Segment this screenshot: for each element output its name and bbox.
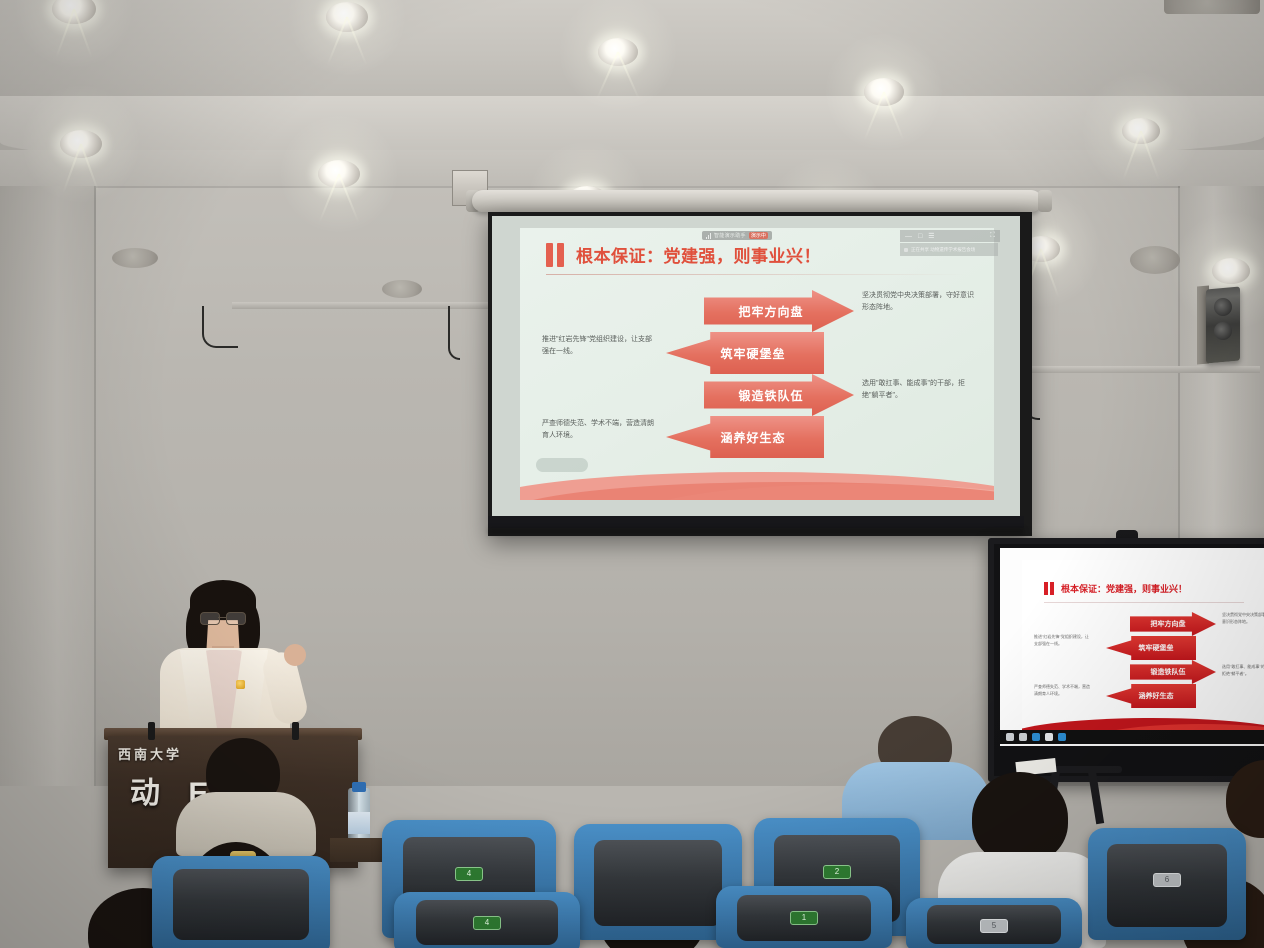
ceiling-downlight	[1212, 258, 1250, 284]
tv-title-accent-bars-icon	[1044, 582, 1054, 595]
tv-note-left-2: 严查师德失范、学术不端，营造清朗育人环境。	[1034, 684, 1092, 698]
slide-arrow-4-label: 涵养好生态	[720, 429, 785, 446]
explorer-icon[interactable]	[1045, 733, 1053, 741]
window-controls[interactable]: — □ ☰ ⛶	[900, 230, 1000, 242]
search-icon[interactable]	[1019, 733, 1027, 741]
seat-number-plate: 5	[980, 919, 1008, 933]
ceiling-downlight	[598, 38, 638, 66]
ceiling-downlight	[864, 78, 904, 106]
slide-arrow-2: 筑牢硬堡垒	[666, 332, 824, 374]
auditorium-seat: 4	[394, 892, 580, 948]
seat-cushion	[594, 840, 722, 926]
slide-note-left-1: 推进"红岩先锋"党组织建设，让支部强在一线。	[542, 334, 654, 359]
projected-slide: 根本保证：党建强，则事业兴！ 把牢方向盘 筑牢硬堡垒 锻造铁队伍 涵养好生态 推…	[520, 228, 994, 500]
presentation-app-toolbar[interactable]: 智能演示助手 演示中	[702, 231, 772, 240]
speaker-cone-icon	[1214, 298, 1232, 316]
tv-arrow-2: 筑牢硬堡垒	[1106, 636, 1196, 660]
slide-note-left-2: 严查师德失范、学术不端，营造清朗育人环境。	[542, 418, 654, 443]
slide-arrow-4: 涵养好生态	[666, 416, 824, 458]
start-icon[interactable]	[1006, 733, 1014, 741]
fullscreen-icon[interactable]: ⛶	[990, 232, 995, 240]
presenting-badge: 演示中	[749, 232, 768, 239]
slide-note-right-1: 坚决贯彻党中央决策部署，守好意识形态阵地。	[862, 290, 974, 315]
slide-title: 根本保证：党建强，则事业兴！	[576, 242, 821, 267]
tv-note-right-1: 坚决贯彻党中央决策部署，守好意识形态阵地。	[1222, 612, 1264, 626]
ceiling-downlight	[60, 130, 102, 158]
tv-title-divider	[1044, 602, 1244, 603]
tv-slide-content: 根本保证：党建强，则事业兴！ 把牢方向盘 筑牢硬堡垒 锻造铁队伍 涵养好生态 推…	[1022, 560, 1264, 738]
auditorium-seat: 6	[1088, 828, 1246, 940]
slide-arrow-1: 把牢方向盘	[704, 290, 854, 332]
ceiling-downlight	[52, 0, 96, 24]
screen-roller-cap-right	[1038, 190, 1052, 212]
ceiling-vent	[112, 248, 158, 268]
seat-number-plate: 4	[455, 867, 483, 881]
tv-arrow-3-label: 锻造铁队伍	[1151, 667, 1186, 677]
auditorium-seat: 1	[716, 886, 892, 948]
ceiling-downlight	[1122, 118, 1160, 144]
maximize-icon[interactable]: □	[918, 233, 922, 240]
tv-arrow-4: 涵养好生态	[1106, 684, 1196, 708]
tv-arrow-4-label: 涵养好生态	[1139, 691, 1174, 701]
share-indicator-icon	[904, 248, 908, 252]
slide-arrow-3-label: 锻造铁队伍	[738, 387, 803, 404]
tv-arrow-2-label: 筑牢硬堡垒	[1139, 643, 1174, 653]
power-cable	[448, 306, 460, 360]
minimize-icon[interactable]: —	[905, 233, 912, 240]
wall-left-column	[0, 186, 96, 786]
app-brand-label: 智能演示助手	[714, 232, 746, 239]
lecture-hall-photo: 根本保证：党建强，则事业兴！ 把牢方向盘 筑牢硬堡垒 锻造铁队伍 涵养好生态 推…	[0, 0, 1264, 948]
screen-drop-shadow	[488, 528, 1024, 535]
audience-head	[972, 772, 1068, 864]
sharing-status-label: 正在共享 动物遗传学术报告会场	[911, 247, 975, 253]
tv-taskbar[interactable]	[1000, 730, 1264, 744]
edge-icon[interactable]	[1032, 733, 1040, 741]
tv-slide-title: 根本保证：党建强，则事业兴！	[1061, 582, 1187, 595]
microphone	[148, 722, 155, 740]
slide-bottom-wave	[520, 456, 994, 500]
seat-number-plate: 2	[823, 865, 851, 879]
tv-arrow-1-label: 把牢方向盘	[1151, 619, 1186, 629]
speaker-cone-icon	[1214, 322, 1232, 340]
microphone	[292, 722, 299, 740]
slide-arrow-1-label: 把牢方向盘	[738, 303, 803, 320]
tv-arrow-1: 把牢方向盘	[1130, 612, 1216, 636]
ceiling-vent	[382, 280, 422, 298]
speaker-glasses-icon	[200, 612, 244, 623]
seat-number-plate: 4	[473, 916, 501, 930]
tv-arrow-3: 锻造铁队伍	[1130, 660, 1216, 684]
bottle-cap	[352, 782, 366, 792]
title-divider	[546, 274, 966, 275]
ceiling-projector-mount	[1164, 0, 1260, 14]
app-icon[interactable]	[1058, 733, 1066, 741]
menu-icon[interactable]: ☰	[928, 233, 934, 240]
slide-arrow-2-label: 筑牢硬堡垒	[720, 345, 785, 362]
title-accent-bars-icon	[546, 243, 564, 267]
power-cable	[202, 306, 238, 348]
seat-cushion	[173, 869, 308, 940]
slide-title-row: 根本保证：党建强，则事业兴！	[546, 242, 821, 267]
signal-bars-icon	[706, 233, 711, 239]
slide-arrow-3: 锻造铁队伍	[704, 374, 854, 416]
sharing-status-bar[interactable]: 正在共享 动物遗传学术报告会场	[900, 243, 998, 256]
tv-note-left-1: 推进"红岩先锋"党组织建设，让支部强在一线。	[1034, 634, 1092, 648]
auditorium-seat: 5	[906, 898, 1082, 948]
tv-note-right-2: 选用"敢扛事、能成事"的干部，拒绝"躺平者"。	[1222, 664, 1264, 678]
wall-left-edge	[94, 186, 96, 786]
speaker-hand	[284, 644, 306, 666]
seat-number-plate: 6	[1153, 873, 1181, 887]
party-emblem-pin-icon	[236, 680, 245, 689]
auditorium-seat	[152, 856, 330, 948]
slide-note-right-2: 选用"敢扛事、能成事"的干部，拒绝"躺平者"。	[862, 378, 974, 403]
ceiling-downlight	[326, 2, 368, 32]
seat-number-plate: 1	[790, 911, 818, 925]
tv-slide-title-row: 根本保证：党建强，则事业兴！	[1044, 582, 1187, 595]
bottle-label	[348, 812, 370, 834]
ceiling-vent	[1130, 246, 1180, 274]
screen-bottom-bar	[488, 516, 1024, 528]
projector-screen-roller	[472, 190, 1042, 212]
ceiling-downlight	[318, 160, 360, 188]
